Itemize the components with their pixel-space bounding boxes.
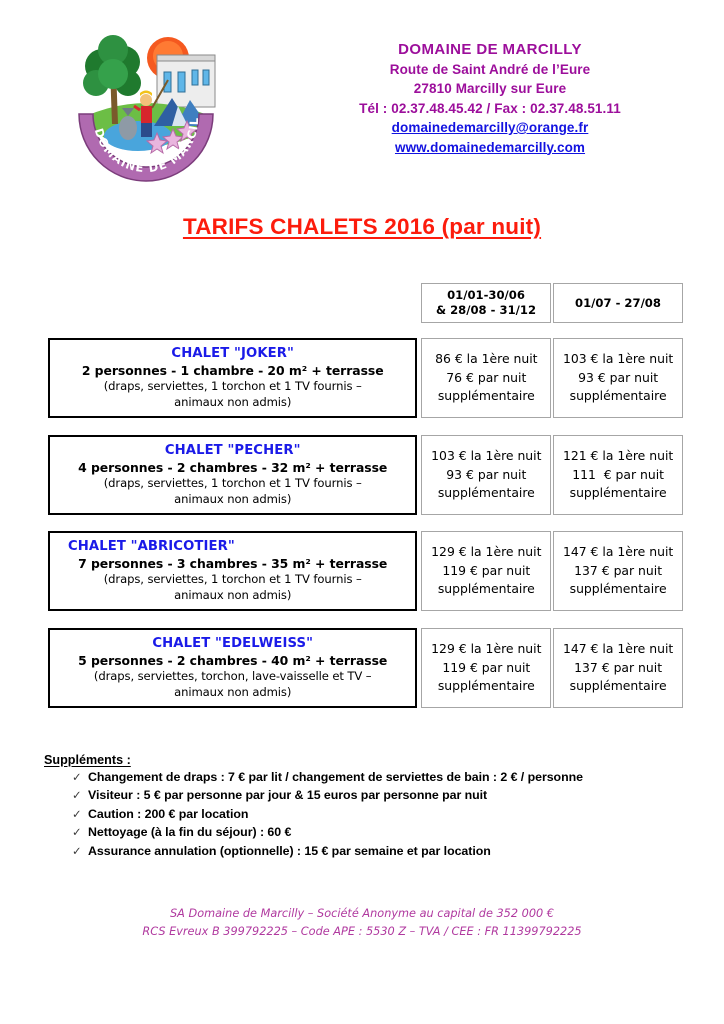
chalet-price-cell-season-2: 147 € la 1ère nuit 137 € par nuit supplé… [553, 628, 683, 708]
supplement-text: Assurance annulation (optionnelle) : 15 … [88, 843, 684, 860]
price-extra-night: 93 € par nuit [578, 369, 658, 388]
org-website-link[interactable]: www.domainedemarcilly.com [395, 140, 585, 155]
price-first-night: 121 € la 1ère nuit [563, 447, 673, 466]
price-first-night: 103 € la 1ère nuit [431, 447, 541, 466]
org-address-line-1: Route de Saint André de l’Eure [255, 60, 724, 80]
chalet-description-cell: CHALET "JOKER" 2 personnes - 1 chambre -… [48, 338, 417, 418]
price-extra-night: 119 € par nuit [442, 562, 530, 581]
check-icon: ✓ [72, 807, 88, 824]
price-extra-label: supplémentaire [438, 484, 535, 503]
chalet-spec: 5 personnes - 2 chambres - 40 m² + terra… [78, 652, 387, 669]
price-extra-label: supplémentaire [438, 677, 535, 696]
season-1-line-1: 01/01-30/06 [447, 288, 525, 303]
list-item: ✓ Nettoyage (à la fin du séjour) : 60 € [44, 824, 684, 842]
chalet-price-cell-season-1: 103 € la 1ère nuit 93 € par nuit supplém… [421, 435, 551, 515]
chalet-name: CHALET "ABRICOTIER" [68, 538, 235, 555]
price-extra-night: 137 € par nuit [574, 562, 662, 581]
supplement-text: Visiteur : 5 € par personne par jour & 1… [88, 787, 684, 804]
season-column-header-1: 01/01-30/06 & 28/08 - 31/12 [421, 283, 551, 323]
price-first-night: 129 € la 1ère nuit [431, 640, 541, 659]
chalet-description-cell: CHALET "EDELWEISS" 5 personnes - 2 chamb… [48, 628, 417, 708]
list-item: ✓ Assurance annulation (optionnelle) : 1… [44, 843, 684, 861]
document-footer: SA Domaine de Marcilly – Société Anonyme… [0, 905, 724, 941]
chalet-included-line-2: animaux non admis) [174, 685, 291, 701]
chalet-spec: 4 personnes - 2 chambres - 32 m² + terra… [78, 459, 387, 476]
footer-line-2: RCS Evreux B 399792225 – Code APE : 5530… [0, 923, 724, 941]
chalet-included-line-2: animaux non admis) [174, 492, 291, 508]
chalet-spec: 7 personnes - 3 chambres - 35 m² + terra… [78, 555, 387, 572]
document-header: DOMAINE DE MARCILLY DOMAINE DE MARCILLY … [0, 0, 724, 200]
chalet-row: CHALET "EDELWEISS" 5 personnes - 2 chamb… [48, 628, 683, 708]
check-icon: ✓ [72, 844, 88, 861]
list-item: ✓ Caution : 200 € par location [44, 806, 684, 824]
chalet-spec: 2 personnes - 1 chambre - 20 m² + terras… [82, 362, 384, 379]
domaine-de-marcilly-logo: DOMAINE DE MARCILLY [72, 28, 220, 183]
price-extra-night: 111 € par nuit [572, 466, 664, 485]
check-icon: ✓ [72, 825, 88, 842]
chalet-included-line-1: (draps, serviettes, 1 torchon et 1 TV fo… [104, 379, 362, 395]
supplements-heading: Suppléments : [44, 753, 684, 767]
org-name: DOMAINE DE MARCILLY [255, 40, 724, 60]
check-icon: ✓ [72, 788, 88, 805]
price-extra-night: 76 € par nuit [446, 369, 526, 388]
supplement-text: Changement de draps : 7 € par lit / chan… [88, 769, 684, 786]
check-icon: ✓ [72, 770, 88, 787]
price-extra-label: supplémentaire [570, 580, 667, 599]
list-item: ✓ Visiteur : 5 € par personne par jour &… [44, 787, 684, 805]
price-extra-night: 119 € par nuit [442, 659, 530, 678]
organization-contact-block: DOMAINE DE MARCILLY Route de Saint André… [255, 40, 724, 157]
document-page: DOMAINE DE MARCILLY DOMAINE DE MARCILLY … [0, 0, 724, 1024]
season-header-row: 01/01-30/06 & 28/08 - 31/12 01/07 - 27/0… [421, 283, 683, 323]
chalet-price-cell-season-2: 147 € la 1ère nuit 137 € par nuit supplé… [553, 531, 683, 611]
chalet-name: CHALET "JOKER" [171, 345, 294, 362]
supplement-text: Nettoyage (à la fin du séjour) : 60 € [88, 824, 684, 841]
chalet-price-cell-season-2: 103 € la 1ère nuit 93 € par nuit supplém… [553, 338, 683, 418]
list-item: ✓ Changement de draps : 7 € par lit / ch… [44, 769, 684, 787]
org-email-link[interactable]: domainedemarcilly@orange.fr [392, 120, 589, 135]
chalet-row: CHALET "PECHER" 4 personnes - 2 chambres… [48, 435, 683, 515]
chalet-included-line-1: (draps, serviettes, 1 torchon et 1 TV fo… [104, 572, 362, 588]
chalet-included-line-2: animaux non admis) [174, 588, 291, 604]
chalet-price-cell-season-1: 86 € la 1ère nuit 76 € par nuit suppléme… [421, 338, 551, 418]
footer-line-1: SA Domaine de Marcilly – Société Anonyme… [0, 905, 724, 923]
supplement-text: Caution : 200 € par location [88, 806, 684, 823]
supplements-list: ✓ Changement de draps : 7 € par lit / ch… [44, 769, 684, 861]
chalet-row: CHALET "ABRICOTIER" 7 personnes - 3 cham… [48, 531, 683, 611]
chalet-row: CHALET "JOKER" 2 personnes - 1 chambre -… [48, 338, 683, 418]
chalet-name: CHALET "EDELWEISS" [152, 635, 313, 652]
price-extra-label: supplémentaire [438, 387, 535, 406]
price-first-night: 147 € la 1ère nuit [563, 640, 673, 659]
price-first-night: 129 € la 1ère nuit [431, 543, 541, 562]
price-extra-label: supplémentaire [438, 580, 535, 599]
chalet-description-cell: CHALET "ABRICOTIER" 7 personnes - 3 cham… [48, 531, 417, 611]
price-extra-label: supplémentaire [570, 677, 667, 696]
price-extra-night: 137 € par nuit [574, 659, 662, 678]
chalet-name: CHALET "PECHER" [165, 442, 301, 459]
org-address-line-2: 27810 Marcilly sur Eure [255, 79, 724, 99]
chalet-included-line-2: animaux non admis) [174, 395, 291, 411]
price-extra-label: supplémentaire [570, 484, 667, 503]
season-1-line-2: & 28/08 - 31/12 [436, 303, 536, 318]
price-first-night: 86 € la 1ère nuit [435, 350, 537, 369]
chalet-included-line-1: (draps, serviettes, torchon, lave-vaisse… [94, 669, 372, 685]
price-first-night: 147 € la 1ère nuit [563, 543, 673, 562]
price-first-night: 103 € la 1ère nuit [563, 350, 673, 369]
price-extra-label: supplémentaire [570, 387, 667, 406]
page-title-text: TARIFS CHALETS 2016 (par nuit) [183, 214, 541, 239]
page-title: TARIFS CHALETS 2016 (par nuit) [0, 214, 724, 240]
chalet-description-cell: CHALET "PECHER" 4 personnes - 2 chambres… [48, 435, 417, 515]
chalet-included-line-1: (draps, serviettes, 1 torchon et 1 TV fo… [104, 476, 362, 492]
season-column-header-2: 01/07 - 27/08 [553, 283, 683, 323]
price-extra-night: 93 € par nuit [446, 466, 526, 485]
chalet-price-cell-season-1: 129 € la 1ère nuit 119 € par nuit supplé… [421, 531, 551, 611]
org-phone-fax: Tél : 02.37.48.45.42 / Fax : 02.37.48.51… [255, 99, 724, 119]
season-2-line-1: 01/07 - 27/08 [575, 296, 661, 311]
supplements-section: Suppléments : ✓ Changement de draps : 7 … [44, 753, 684, 861]
chalet-price-cell-season-1: 129 € la 1ère nuit 119 € par nuit supplé… [421, 628, 551, 708]
chalet-price-cell-season-2: 121 € la 1ère nuit 111 € par nuit supplé… [553, 435, 683, 515]
